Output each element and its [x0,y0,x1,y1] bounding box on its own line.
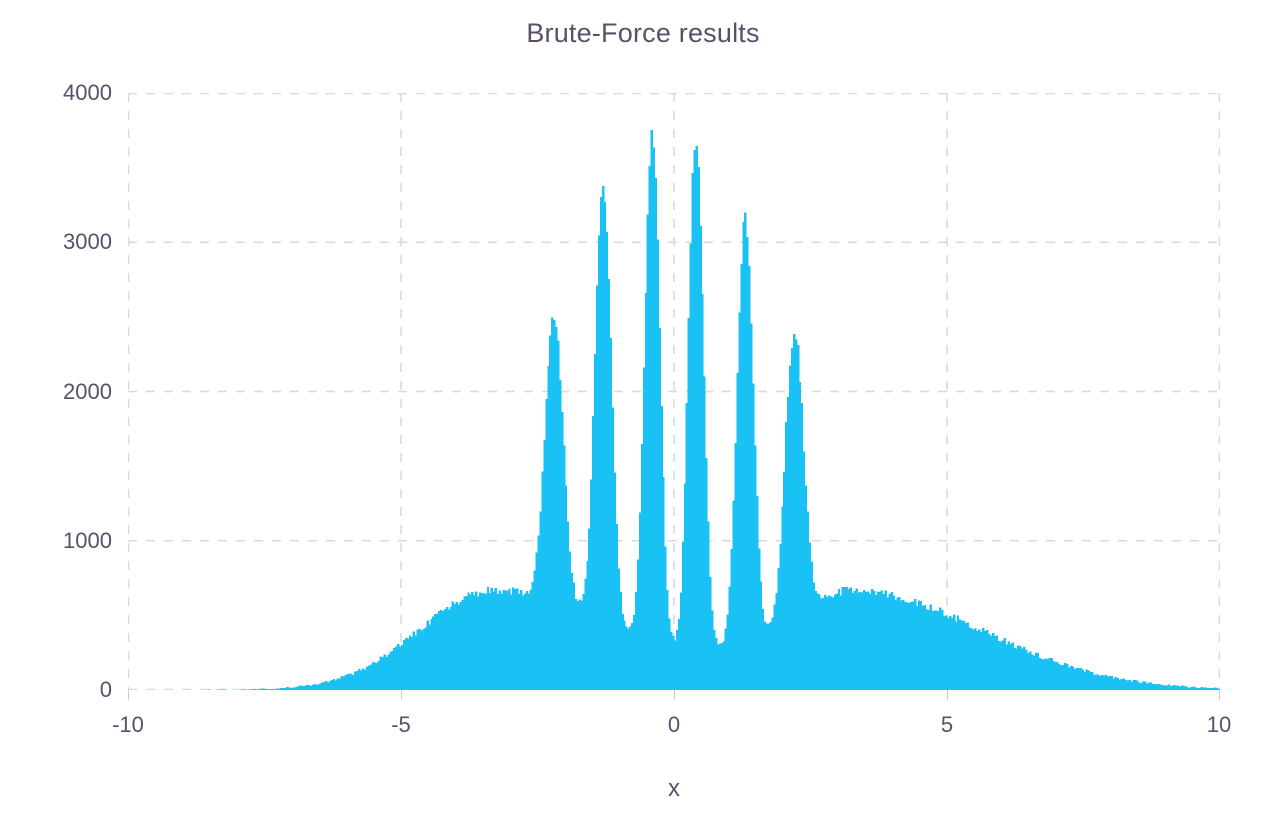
y-tick-label: 4000 [16,80,112,106]
x-tick-mark [1219,690,1220,700]
gridlines [128,93,1220,690]
y-tick-label: 3000 [16,229,112,255]
x-axis-tick-labels: -10 -5 0 5 10 [128,712,1220,746]
y-tick-label: 2000 [16,379,112,405]
histogram-bar-path [140,130,1220,690]
chart-figure: Brute-Force results 4000 3000 2000 1000 … [0,0,1286,832]
histogram-bars [140,130,1220,690]
x-axis-title: x [128,775,1220,803]
x-tick-label: 10 [1159,712,1279,738]
x-tick-label: 0 [614,712,734,738]
x-tick-mark [674,690,675,700]
x-tick-mark [947,690,948,700]
x-tick-mark [128,690,129,700]
histogram-canvas [128,93,1220,690]
chart-title: Brute-Force results [0,18,1286,49]
x-tick-label: 5 [887,712,1007,738]
y-tick-label: 0 [16,677,112,703]
x-tick-mark [401,690,402,700]
plot-area [128,93,1220,690]
x-tick-label: -5 [341,712,461,738]
y-tick-label: 1000 [16,528,112,554]
y-axis-tick-labels: 4000 3000 2000 1000 0 [8,93,112,690]
x-tick-label: -10 [68,712,188,738]
